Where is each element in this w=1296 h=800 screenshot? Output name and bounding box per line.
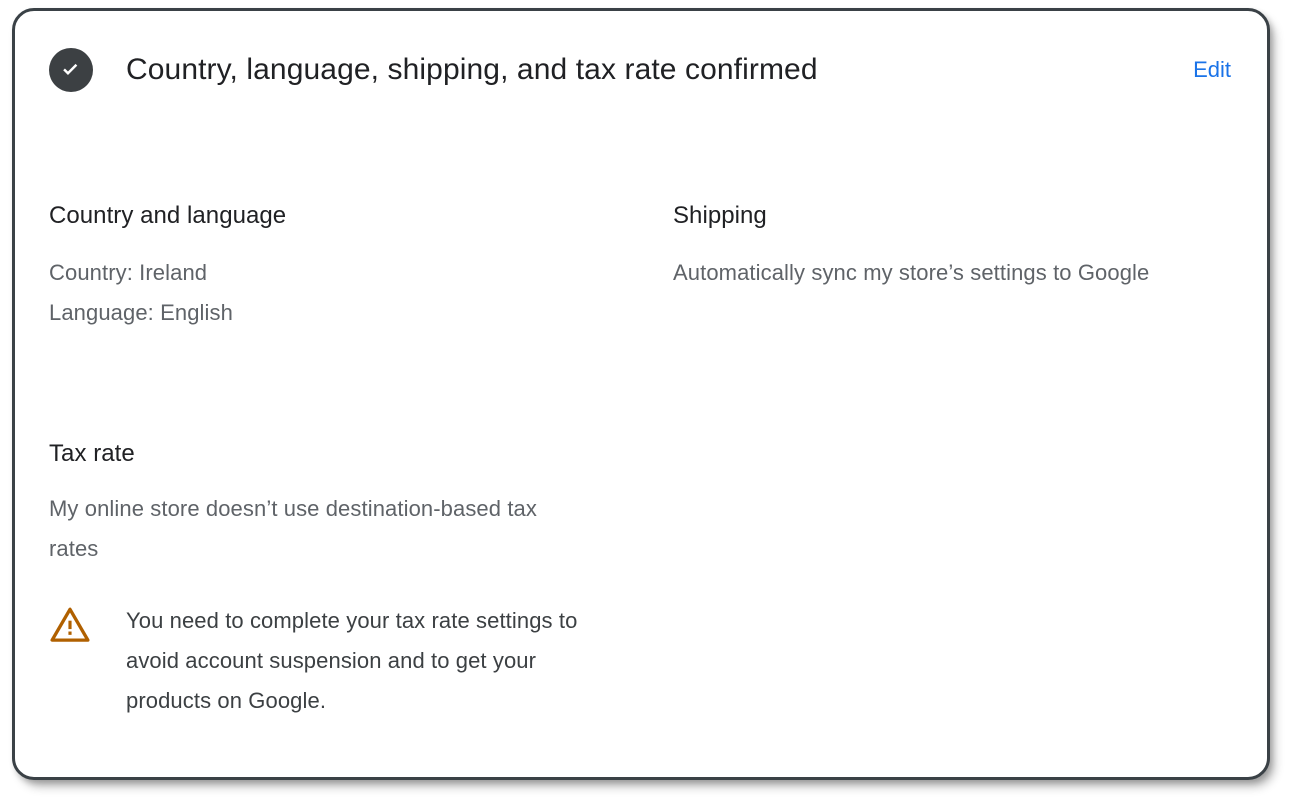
shipping-section: Shipping Automatically sync my store’s s… [673,201,1229,293]
check-circle-icon [49,48,93,92]
country-language-heading: Country and language [49,201,629,231]
confirmation-card: Country, language, shipping, and tax rat… [12,8,1270,780]
country-value: Country: Ireland [49,253,629,293]
warning-triangle-icon [49,603,91,645]
edit-button[interactable]: Edit [1191,52,1233,88]
tax-rate-warning: You need to complete your tax rate setti… [49,601,629,721]
tax-rate-section: Tax rate My online store doesn’t use des… [49,439,629,721]
right-column: Shipping Automatically sync my store’s s… [673,201,1229,293]
tax-rate-heading: Tax rate [49,439,629,469]
card-header: Country, language, shipping, and tax rat… [15,11,1267,129]
language-value: Language: English [49,293,629,333]
country-language-section: Country and language Country: Ireland La… [49,201,629,333]
section-spacer [49,333,629,439]
warning-message: You need to complete your tax rate setti… [126,601,626,721]
card-body: Country and language Country: Ireland La… [15,129,1267,777]
tax-rate-description: My online store doesn’t use destination-… [49,489,589,569]
confirmation-card-wrapper: Country, language, shipping, and tax rat… [12,8,1270,780]
page-title: Country, language, shipping, and tax rat… [126,52,1191,88]
shipping-description: Automatically sync my store’s settings t… [673,253,1213,293]
shipping-heading: Shipping [673,201,1229,231]
left-column: Country and language Country: Ireland La… [49,201,629,721]
